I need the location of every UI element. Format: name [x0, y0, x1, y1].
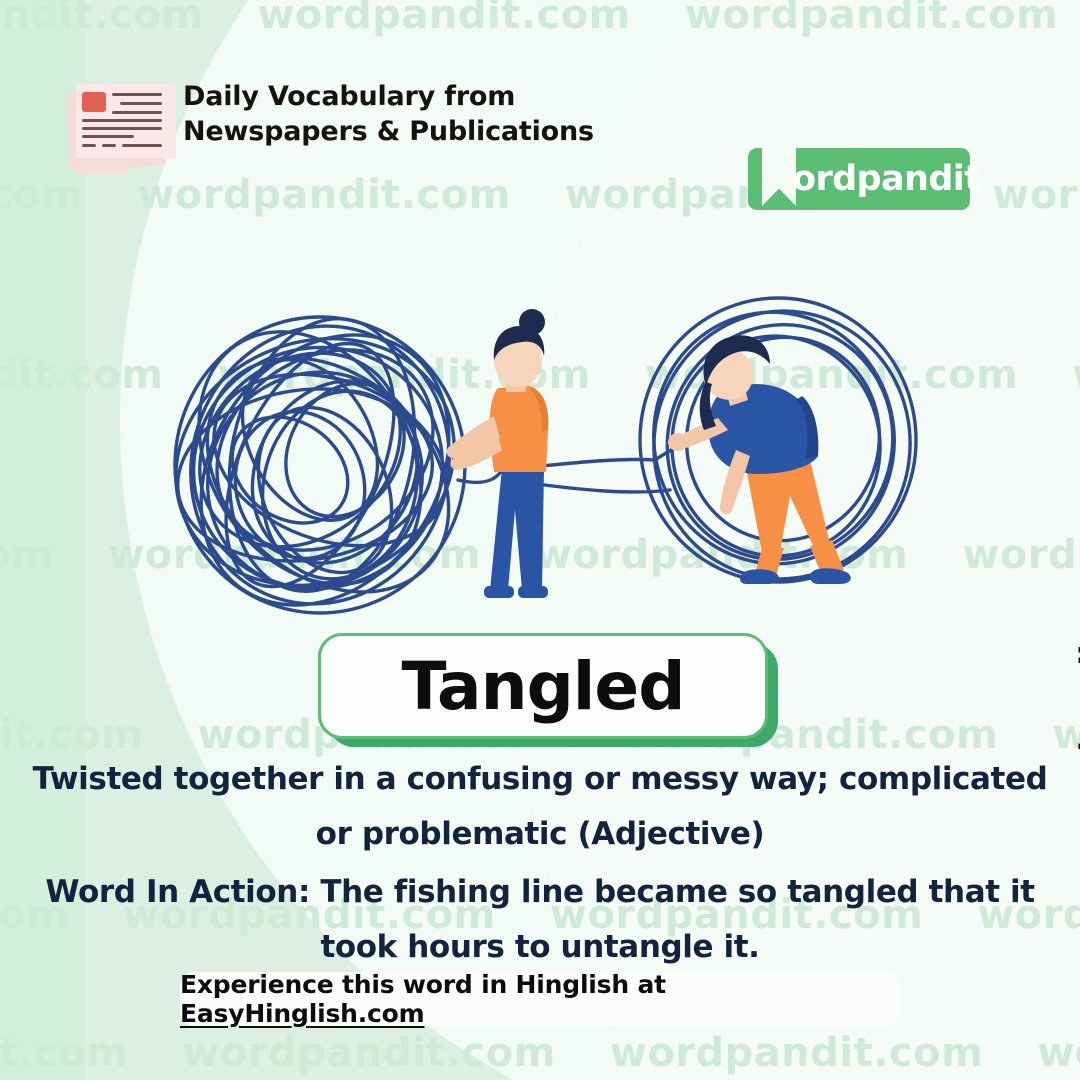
poster-canvas: wordpandit.comwordpandit.comwordpandit.c…: [0, 0, 1080, 1080]
left-person: [447, 309, 549, 598]
bookmark-icon: [762, 144, 796, 206]
header-title: Daily Vocabulary from Newspapers & Publi…: [183, 80, 594, 149]
logo-text: ordpandit: [792, 159, 980, 199]
header: Daily Vocabulary from Newspapers & Publi…: [0, 62, 1080, 172]
easyhinglish-link[interactable]: EasyHinglish.com: [180, 999, 424, 1028]
tangled-thread-illustration: [150, 290, 940, 640]
header-title-line2: Newspapers & Publications: [183, 115, 594, 150]
example-line2: took hours to untangle it.: [20, 920, 1060, 975]
word-card: Tangled: [318, 633, 768, 741]
example-line1: Word In Action: The fishing line became …: [20, 865, 1060, 920]
definition-line1: Twisted together in a confusing or messy…: [10, 752, 1070, 807]
footer-card: Experience this word in Hinglish at Easy…: [180, 972, 900, 1026]
footer-text: Experience this word in Hinglish at Easy…: [180, 970, 900, 1028]
newspaper-icon: [60, 76, 180, 176]
word-title: Tangled: [402, 648, 685, 725]
word-definition: Twisted together in a confusing or messy…: [10, 752, 1070, 862]
header-title-line1: Daily Vocabulary from: [183, 80, 594, 115]
footer-prefix: Experience this word in Hinglish at: [180, 970, 666, 999]
word-in-action: Word In Action: The fishing line became …: [20, 865, 1060, 975]
definition-line2: or problematic (Adjective): [10, 807, 1070, 862]
wordpandit-logo[interactable]: ordpandit: [748, 148, 970, 210]
side-watermark: wordpandit.com: [1074, 548, 1080, 828]
